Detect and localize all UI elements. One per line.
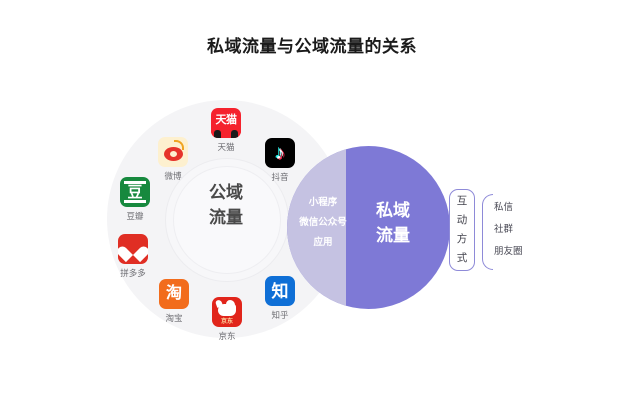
- tmall-icon: 天猫: [211, 108, 241, 138]
- app-caption: 知乎: [258, 309, 302, 321]
- tmall-icon-horns: [211, 127, 241, 138]
- interaction-method-box: 互 动 方 式: [449, 189, 475, 271]
- douyin-icon-note-glyph: ♪: [275, 144, 285, 163]
- venn-diagram: 公域 流量 小程序 微信公众号 应用 私域 流量 天猫 天猫 微博 ♪ 抖音: [0, 76, 624, 406]
- page-title: 私域流量与公域流量的关系: [0, 32, 624, 57]
- app-caption: 天猫: [204, 141, 248, 153]
- douban-icon-bar-top: [124, 181, 146, 184]
- app-tmall[interactable]: 天猫 天猫: [204, 108, 248, 153]
- tmall-icon-glyph: 天猫: [216, 115, 237, 126]
- app-zhihu[interactable]: 知 知乎: [258, 276, 302, 321]
- public-domain-label-line1: 公域: [180, 180, 272, 205]
- taobao-icon-glyph: 淘: [166, 286, 182, 302]
- interaction-channel-list: 私信 社群 朋友圈: [494, 197, 546, 263]
- zhihu-icon-glyph: 知: [272, 283, 289, 300]
- app-caption: 淘宝: [152, 312, 196, 324]
- pinduoduo-icon-pattern: [118, 234, 148, 264]
- douban-icon-glyph: 豆: [127, 185, 142, 200]
- channel-item: 朋友圈: [494, 241, 546, 263]
- interaction-char-1: 互: [450, 192, 474, 211]
- public-domain-label: 公域 流量: [180, 180, 272, 230]
- intersection-line-1: 小程序: [289, 193, 357, 213]
- private-domain-label: 私域 流量: [353, 198, 433, 248]
- brace-icon: [482, 194, 493, 270]
- app-weibo[interactable]: 微博: [151, 137, 195, 182]
- weibo-icon-signal: [174, 140, 184, 150]
- interaction-char-4: 式: [450, 249, 474, 268]
- public-domain-label-line2: 流量: [180, 205, 272, 230]
- intersection-label: 小程序 微信公众号 应用: [289, 193, 357, 253]
- jd-icon-dog: [218, 304, 236, 316]
- zhihu-icon: 知: [265, 276, 295, 306]
- app-caption: 豆瓣: [113, 210, 157, 222]
- jd-icon-glyph: 京东: [212, 319, 242, 325]
- private-domain-label-line2: 流量: [353, 223, 433, 248]
- intersection-line-3: 应用: [289, 233, 357, 253]
- intersection-line-2: 微信公众号: [289, 213, 357, 233]
- channel-item: 社群: [494, 219, 546, 241]
- jd-icon: 京东: [212, 297, 242, 327]
- app-caption: 京东: [205, 330, 249, 342]
- app-caption: 抖音: [258, 171, 302, 183]
- app-pinduoduo[interactable]: 拼多多: [111, 234, 155, 279]
- weibo-icon: [158, 137, 188, 167]
- pinduoduo-icon: [118, 234, 148, 264]
- app-douban[interactable]: 豆 豆瓣: [113, 177, 157, 222]
- taobao-icon: 淘: [159, 279, 189, 309]
- private-domain-label-line1: 私域: [353, 198, 433, 223]
- douyin-icon: ♪: [265, 138, 295, 168]
- app-jd[interactable]: 京东 京东: [205, 297, 249, 342]
- interaction-char-2: 动: [450, 211, 474, 230]
- interaction-char-3: 方: [450, 230, 474, 249]
- app-caption: 拼多多: [111, 267, 155, 279]
- channel-item: 私信: [494, 197, 546, 219]
- app-taobao[interactable]: 淘 淘宝: [152, 279, 196, 324]
- douban-icon: 豆: [120, 177, 150, 207]
- app-caption: 微博: [151, 170, 195, 182]
- douban-icon-bar-bottom: [124, 200, 146, 203]
- app-douyin[interactable]: ♪ 抖音: [258, 138, 302, 183]
